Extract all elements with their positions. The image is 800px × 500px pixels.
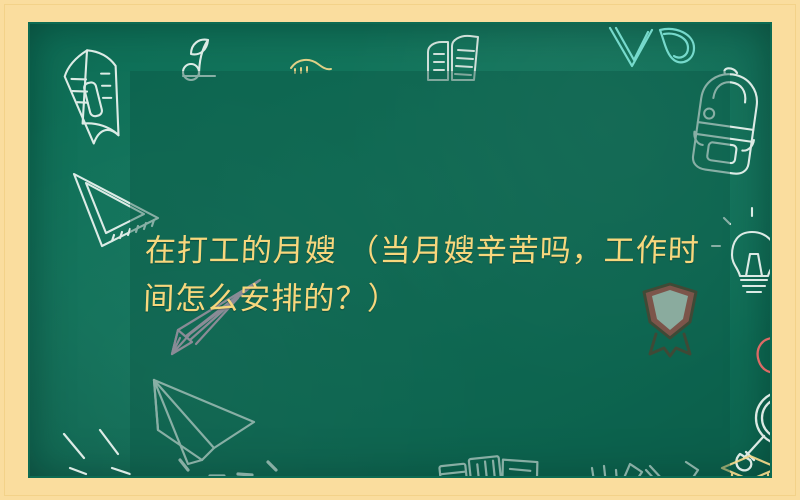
chalkboard: 在打工的月嫂 （当月嫂辛苦吗，工作时间怎么安排的？） — [28, 22, 772, 478]
caption-panel: 在打工的月嫂 （当月嫂辛苦吗，工作时间怎么安排的？） — [130, 71, 730, 478]
caption-text: 在打工的月嫂 （当月嫂辛苦吗，工作时间怎么安排的？） — [128, 227, 731, 323]
apple-icon — [752, 324, 772, 376]
poster-root: 在打工的月嫂 （当月嫂辛苦吗，工作时间怎么安排的？） — [0, 0, 800, 500]
dash-strokes-icon — [60, 424, 140, 478]
